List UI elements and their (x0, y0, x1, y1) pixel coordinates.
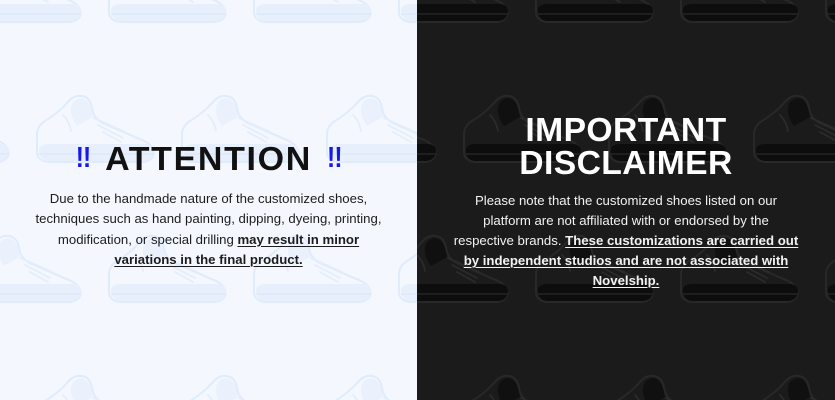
disclaimer-banner: !! ATTENTION !! Due to the handmade natu… (0, 0, 835, 400)
attention-panel: !! ATTENTION !! Due to the handmade natu… (0, 0, 417, 400)
exclamation-right-icon: !! (327, 144, 342, 173)
disclaimer-heading-line2: DISCLAIMER (450, 146, 803, 179)
exclamation-left-icon: !! (75, 144, 90, 173)
attention-body: Due to the handmade nature of the custom… (34, 189, 383, 269)
disclaimer-heading: IMPORTANT DISCLAIMER (450, 113, 803, 179)
disclaimer-heading-line1: IMPORTANT (450, 113, 803, 146)
attention-heading-text: ATTENTION (105, 142, 312, 175)
disclaimer-content: IMPORTANT DISCLAIMER Please note that th… (417, 113, 835, 291)
attention-heading: !! ATTENTION !! (29, 142, 388, 175)
disclaimer-body: Please note that the customized shoes li… (453, 191, 799, 291)
disclaimer-panel: IMPORTANT DISCLAIMER Please note that th… (417, 0, 835, 400)
attention-content: !! ATTENTION !! Due to the handmade natu… (0, 142, 417, 269)
